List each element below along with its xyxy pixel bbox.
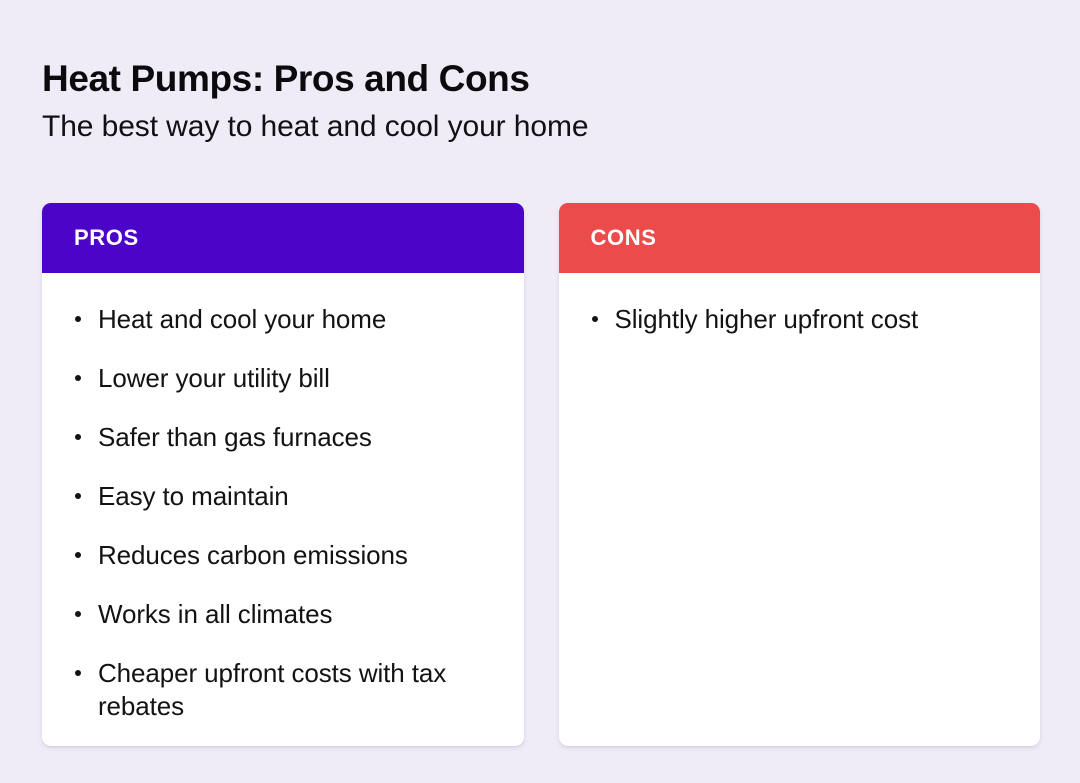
pros-cons-cards: PROS Heat and cool your home Lower your … — [42, 203, 1040, 746]
list-item-label: Works in all climates — [98, 599, 332, 629]
list-item-label: Cheaper upfront costs with tax rebates — [98, 658, 446, 721]
list-item: Reduces carbon emissions — [68, 539, 498, 572]
list-item-label: Safer than gas furnaces — [98, 422, 372, 452]
bullet-dot-icon — [75, 670, 81, 676]
list-item: Works in all climates — [68, 598, 498, 631]
pros-card: PROS Heat and cool your home Lower your … — [42, 203, 524, 746]
list-item: Easy to maintain — [68, 480, 498, 513]
bullet-dot-icon — [75, 316, 81, 322]
list-item: Safer than gas furnaces — [68, 421, 498, 454]
page-title: Heat Pumps: Pros and Cons — [42, 58, 942, 99]
infographic-page: Heat Pumps: Pros and Cons The best way t… — [0, 0, 1080, 783]
bullet-dot-icon — [75, 493, 81, 499]
list-item: Heat and cool your home — [68, 303, 498, 336]
list-item: Cheaper upfront costs with tax rebates — [68, 657, 498, 723]
list-item-label: Slightly higher upfront cost — [615, 304, 919, 334]
list-item-label: Reduces carbon emissions — [98, 540, 408, 570]
list-item: Lower your utility bill — [68, 362, 498, 395]
bullet-dot-icon — [75, 375, 81, 381]
pros-card-header: PROS — [42, 203, 524, 273]
page-header: Heat Pumps: Pros and Cons The best way t… — [42, 58, 942, 145]
list-item-label: Heat and cool your home — [98, 304, 386, 334]
cons-card-heading: CONS — [591, 227, 657, 249]
list-item-label: Easy to maintain — [98, 481, 289, 511]
page-subtitle: The best way to heat and cool your home — [42, 109, 942, 145]
pros-card-heading: PROS — [74, 227, 139, 249]
bullet-dot-icon — [592, 316, 598, 322]
pros-list: Heat and cool your home Lower your utili… — [68, 303, 498, 723]
bullet-dot-icon — [75, 611, 81, 617]
pros-card-body: Heat and cool your home Lower your utili… — [42, 273, 524, 746]
bullet-dot-icon — [75, 552, 81, 558]
cons-list: Slightly higher upfront cost — [585, 303, 1015, 336]
list-item-label: Lower your utility bill — [98, 363, 330, 393]
cons-card-header: CONS — [559, 203, 1041, 273]
list-item: Slightly higher upfront cost — [585, 303, 1015, 336]
bullet-dot-icon — [75, 434, 81, 440]
cons-card: CONS Slightly higher upfront cost — [559, 203, 1041, 746]
cons-card-body: Slightly higher upfront cost — [559, 273, 1041, 746]
